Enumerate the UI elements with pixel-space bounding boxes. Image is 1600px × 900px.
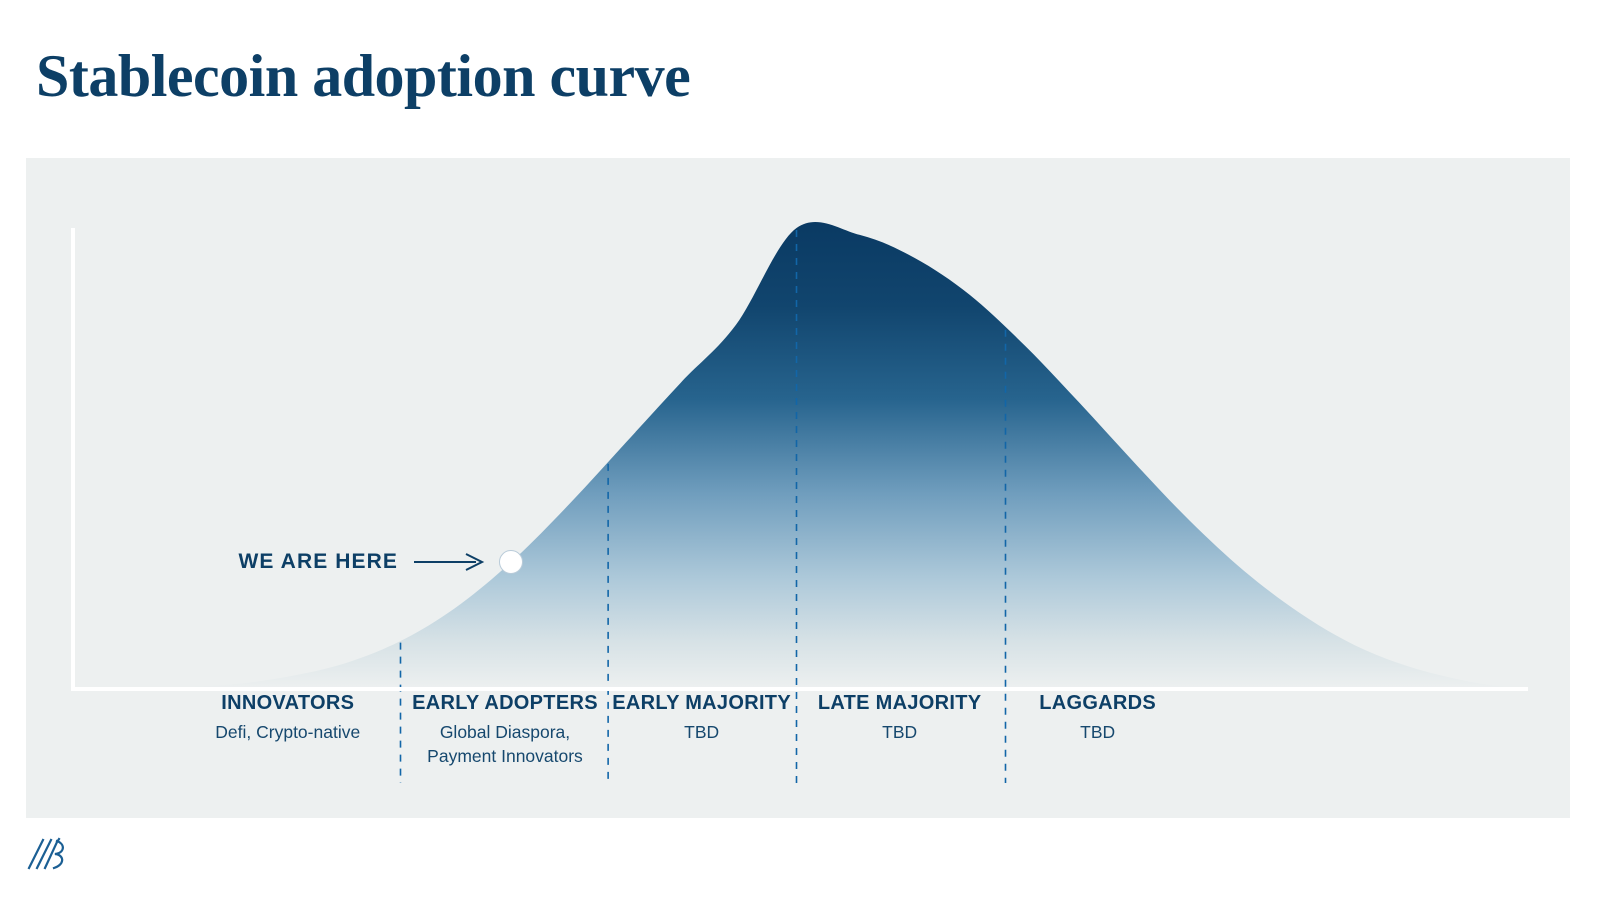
brand-logo-mark (26, 824, 70, 874)
category-description: TBD (968, 720, 1228, 744)
bell-curve-area (131, 222, 1506, 689)
category-label-row: INNOVATORSDefi, Crypto-nativeEARLY ADOPT… (26, 690, 1570, 818)
position-marker-dot (499, 550, 523, 574)
category-name: LAGGARDS (968, 690, 1228, 716)
chart-panel: WE ARE HERE INNOVATORSDefi, Crypto-nativ… (26, 158, 1570, 818)
page-title: Stablecoin adoption curve (36, 44, 690, 108)
category-block: LAGGARDSTBD (968, 690, 1228, 744)
